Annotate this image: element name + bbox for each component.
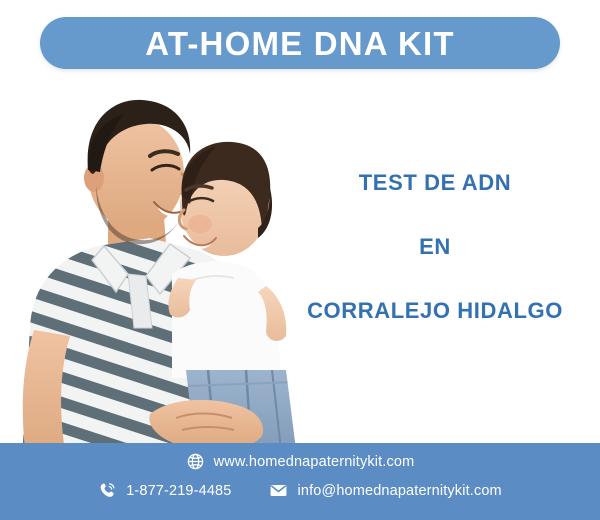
header-banner: AT-HOME DNA KIT xyxy=(40,17,560,69)
contact-footer: www.homednapaternitykit.com 1-877-219-44… xyxy=(0,443,600,520)
phone-contact[interactable]: 1-877-219-4485 xyxy=(98,481,231,500)
poster: AT-HOME DNA KIT xyxy=(0,0,600,520)
website-contact[interactable]: www.homednapaternitykit.com xyxy=(186,452,415,471)
headline-line-1: TEST DE ADN xyxy=(290,172,580,194)
headline-block: TEST DE ADN EN CORRALEJO HIDALGO xyxy=(290,160,580,322)
phone-icon xyxy=(98,481,117,500)
headline-line-3: CORRALEJO HIDALGO xyxy=(290,300,580,322)
phone-text: 1-877-219-4485 xyxy=(126,483,231,499)
email-contact[interactable]: info@homednapaternitykit.com xyxy=(269,481,501,500)
headline-line-2: EN xyxy=(290,236,580,258)
website-text: www.homednapaternitykit.com xyxy=(214,454,415,470)
footer-row-website: www.homednapaternitykit.com xyxy=(0,452,600,471)
globe-icon xyxy=(186,452,205,471)
page-title: AT-HOME DNA KIT xyxy=(145,27,454,60)
family-photo xyxy=(0,78,320,458)
footer-row-phone-email: 1-877-219-4485 info@homednapaternitykit.… xyxy=(0,481,600,500)
family-photo-illustration xyxy=(0,78,320,458)
envelope-icon xyxy=(269,481,288,500)
email-text: info@homednapaternitykit.com xyxy=(297,483,501,499)
